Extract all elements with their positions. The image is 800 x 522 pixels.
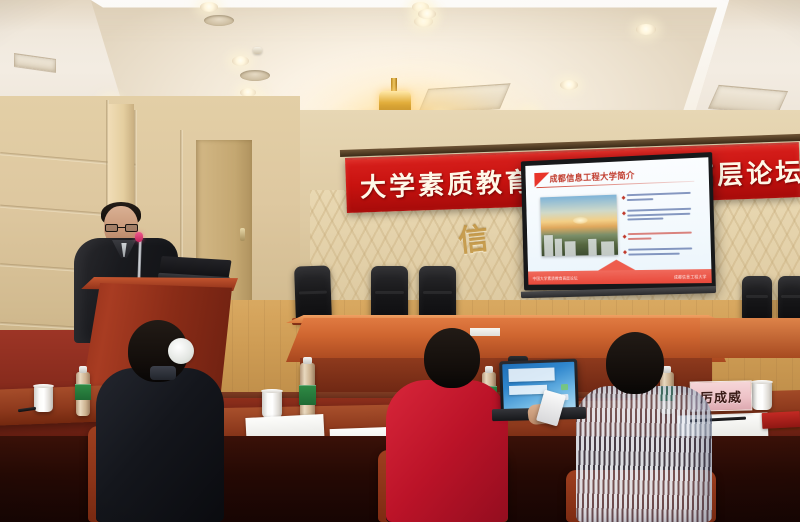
attendee-body bbox=[96, 368, 224, 522]
stage-chair[interactable] bbox=[371, 266, 408, 322]
sun-icon bbox=[573, 217, 588, 224]
building-shape bbox=[588, 239, 597, 256]
slide-footer-triangle-icon bbox=[598, 259, 635, 270]
slide-bullet bbox=[624, 247, 693, 257]
door-handle-icon[interactable] bbox=[240, 228, 245, 241]
stage-chair[interactable] bbox=[294, 265, 332, 322]
slide-bullet bbox=[623, 232, 692, 242]
window-shape bbox=[509, 385, 547, 395]
building-shape bbox=[555, 239, 563, 256]
microphone-icon bbox=[135, 232, 143, 242]
presentation-slide: 成都信息工程大学简介 bbox=[525, 157, 711, 284]
stage-chair[interactable] bbox=[742, 276, 772, 320]
stage-chair[interactable] bbox=[419, 266, 456, 322]
wall-calligraphy: 信 bbox=[456, 214, 490, 261]
downlight-icon bbox=[418, 9, 436, 19]
smoke-detector-icon bbox=[253, 47, 262, 54]
slide-footer-bar: 中国大学素质教育高层论坛 成都信息工程大学 bbox=[528, 269, 712, 285]
paper-cup bbox=[34, 386, 53, 412]
window-shape bbox=[508, 367, 554, 382]
water-bottle bbox=[300, 363, 315, 418]
desktop-icon bbox=[561, 384, 568, 390]
slide-bullet bbox=[622, 192, 691, 203]
ceiling-speaker-icon bbox=[204, 15, 234, 26]
bullet-marker-icon bbox=[622, 196, 626, 200]
conference-room-photo: 信 诚 大学素质教育研究 质教育高层论坛 成都信息工程大学简介 bbox=[0, 0, 800, 522]
laptop-screen bbox=[502, 362, 576, 410]
slide-campus-photo bbox=[540, 195, 618, 257]
building-shape bbox=[601, 241, 614, 255]
red-notebook bbox=[762, 411, 800, 429]
attendee-head bbox=[424, 328, 480, 388]
slide-footer-right-text: 成都信息工程大学 bbox=[674, 274, 707, 280]
attendee-head bbox=[606, 332, 664, 394]
paper-cup bbox=[752, 382, 772, 410]
glasses-icon bbox=[105, 224, 138, 232]
building-shape bbox=[565, 241, 576, 256]
bullet-marker-icon bbox=[623, 250, 627, 254]
attendee-body bbox=[576, 386, 712, 522]
slide-footer-left-text: 中国大学素质教育高层论坛 bbox=[533, 276, 578, 282]
slide-bullet bbox=[622, 208, 691, 223]
downlight-icon bbox=[636, 24, 656, 35]
bullet-marker-icon bbox=[623, 235, 627, 239]
head-table-right bbox=[700, 318, 800, 358]
building-shape bbox=[544, 235, 553, 256]
attendee-collar bbox=[150, 366, 176, 380]
water-bottle bbox=[76, 372, 90, 416]
decorative-plate bbox=[168, 338, 194, 364]
ceiling-speaker-icon bbox=[240, 70, 270, 81]
paper-cup bbox=[262, 391, 282, 418]
bullet-marker-icon bbox=[622, 211, 626, 215]
attendee-body bbox=[386, 380, 508, 522]
head-table-paper bbox=[470, 328, 500, 336]
projector-screen: 成都信息工程大学简介 bbox=[521, 152, 716, 290]
downlight-icon bbox=[232, 56, 249, 66]
slide-accent-triangle-icon bbox=[534, 172, 549, 187]
downlight-icon bbox=[200, 2, 218, 12]
stage-chair[interactable] bbox=[778, 276, 800, 320]
